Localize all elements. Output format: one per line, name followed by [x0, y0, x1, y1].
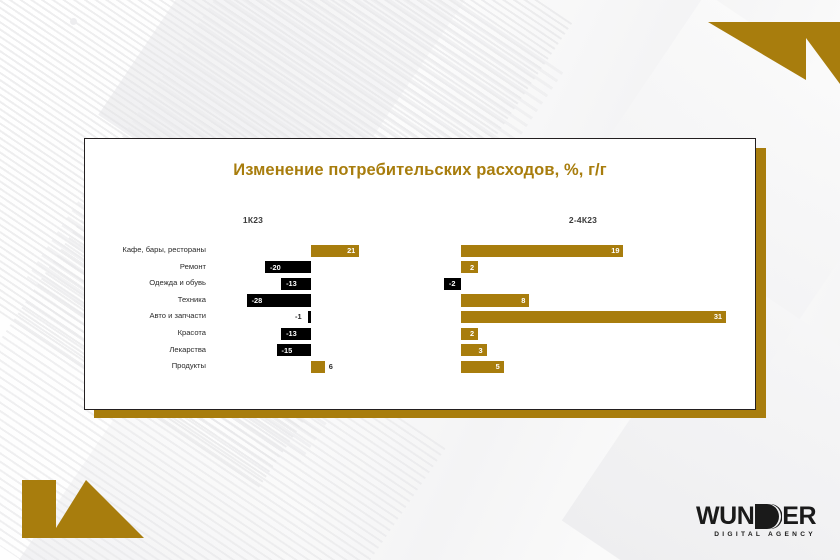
bar-1k23: -13	[281, 328, 311, 340]
bar-2-4k23: 8	[461, 294, 529, 306]
wunder-logo-wordmark: WUN ER	[696, 503, 816, 529]
chart-rows: Кафе, бары, рестораны2119Ремонт-202Одежд…	[85, 243, 755, 376]
bar-value-label: 3	[479, 347, 483, 354]
bar-value-label: 21	[347, 247, 355, 254]
table-row: Авто и запчасти-131	[85, 309, 755, 326]
bar-1k23: -20	[265, 261, 311, 273]
panel-1k23-row: -13	[85, 276, 415, 289]
bar-1k23: -15	[277, 344, 312, 356]
background-dot	[70, 18, 77, 25]
bar-value-label: 31	[714, 313, 722, 320]
bar-value-label: 8	[521, 297, 525, 304]
bar-value-label: -15	[282, 347, 293, 354]
panel-1k23-row: -15	[85, 343, 415, 356]
panel-1k23-row: -28	[85, 293, 415, 306]
bar-value-label: -13	[286, 280, 297, 287]
bar-value-label: 6	[329, 363, 333, 370]
bar-value-label: -1	[295, 313, 302, 320]
wunder-logo: WUN ER DIGITAL AGENCY	[696, 503, 816, 538]
bar-2-4k23: -2	[444, 278, 461, 290]
panel-1k23-row: -20	[85, 260, 415, 273]
bar-value-label: -13	[286, 330, 297, 337]
table-row: Лекарства-153	[85, 343, 755, 360]
table-row: Продукты65	[85, 359, 755, 376]
panel-1k23-row: -13	[85, 326, 415, 339]
panel-2-4k23-row: 31	[415, 309, 757, 322]
gold-chevron-mark-top-right	[708, 18, 840, 84]
bar-value-label: -20	[270, 264, 281, 271]
table-row: Ремонт-202	[85, 260, 755, 277]
table-row: Красота-132	[85, 326, 755, 343]
bar-2-4k23: 3	[461, 344, 487, 356]
chart-card: Изменение потребительских расходов, %, г…	[84, 138, 756, 410]
panel-header-2-4k23: 2-4К23	[569, 215, 597, 225]
bar-2-4k23: 31	[461, 311, 726, 323]
bar-value-label: -28	[252, 297, 263, 304]
table-row: Одежда и обувь-13-2	[85, 276, 755, 293]
bar-1k23	[308, 311, 311, 323]
bar-2-4k23: 2	[461, 261, 478, 273]
wunder-logo-part-1: WUN	[696, 504, 754, 529]
bar-value-label: -2	[449, 280, 456, 287]
wunder-logo-part-2: ER	[782, 504, 816, 529]
panel-2-4k23-row: 2	[415, 260, 757, 273]
bar-2-4k23: 5	[461, 361, 504, 373]
bar-1k23: 21	[311, 245, 359, 257]
bar-value-label: 19	[611, 247, 619, 254]
bar-2-4k23: 19	[461, 245, 623, 257]
bar-value-label: 2	[470, 330, 474, 337]
bar-1k23: -28	[247, 294, 311, 306]
panel-2-4k23-row: 3	[415, 343, 757, 356]
grouped-bar-chart: 1К23 2-4К23 Кафе, бары, рестораны2119Рем…	[85, 139, 755, 409]
table-row: Техника-288	[85, 293, 755, 310]
panel-2-4k23-row: 8	[415, 293, 757, 306]
bar-1k23	[311, 361, 325, 373]
panel-1k23-row: 6	[85, 359, 415, 372]
panel-2-4k23-row: -2	[415, 276, 757, 289]
panel-2-4k23-row: 19	[415, 243, 757, 256]
bar-value-label: 5	[496, 363, 500, 370]
gold-chevron-mark-bottom-left	[22, 476, 144, 542]
table-row: Кафе, бары, рестораны2119	[85, 243, 755, 260]
panel-2-4k23-row: 2	[415, 326, 757, 339]
panel-1k23-row: -1	[85, 309, 415, 322]
wunder-logo-d-glyph-icon	[754, 504, 782, 529]
bar-1k23: -13	[281, 278, 311, 290]
panel-1k23-row: 21	[85, 243, 415, 256]
bar-value-label: 2	[470, 264, 474, 271]
panel-header-1k23: 1К23	[243, 215, 263, 225]
bar-2-4k23: 2	[461, 328, 478, 340]
wunder-logo-tagline: DIGITAL AGENCY	[714, 531, 816, 538]
panel-2-4k23-row: 5	[415, 359, 757, 372]
